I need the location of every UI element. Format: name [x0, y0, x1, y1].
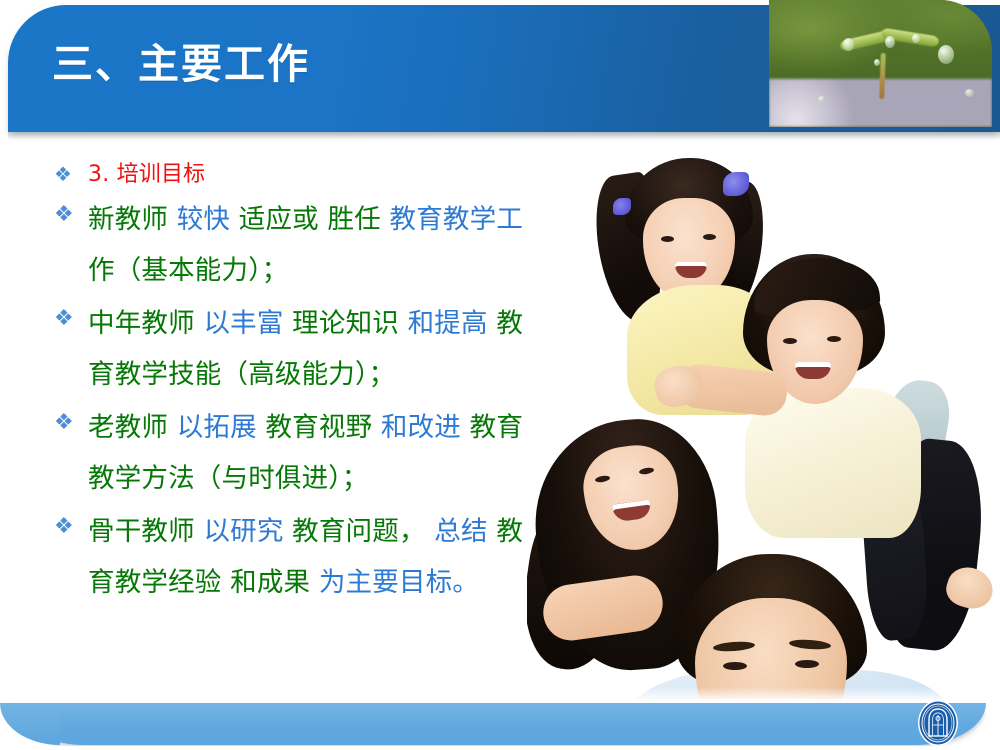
text-run: 和提高 — [408, 308, 488, 339]
text-run: 适应或 — [239, 204, 319, 235]
text-run: 以拓展 — [177, 412, 257, 443]
footer-band — [14, 703, 986, 745]
text-run: 中年教师 — [88, 308, 195, 339]
diamond-bullet-icon: ❖ — [52, 158, 88, 191]
header-shadow — [8, 131, 1000, 140]
list-item-text: 3. 培训目标 — [88, 158, 532, 192]
page-title: 三、主要工作 — [52, 41, 310, 88]
list-item[interactable]: ❖ 3. 培训目标 — [52, 158, 532, 192]
slide-bottom-edge — [0, 746, 1000, 750]
diamond-bullet-icon: ❖ — [52, 402, 88, 443]
list-item[interactable]: ❖ 中年教师 以丰富 理论知识 和提高 教 育教学技能（高级能力）； — [52, 298, 532, 400]
list-item-text: 老教师 以拓展 教育视野 和改进 教育 教学方法（与时俱进）； — [88, 402, 532, 504]
text-run: 理论知识 — [292, 308, 399, 339]
text-run: 教学方法（与时俱进）； — [88, 463, 368, 494]
text-run: 教育视野 — [265, 412, 372, 443]
list-item[interactable]: ❖ 骨干教师 以研究 教育问题， 总结 教 育教学经验 和成果 为主要目标。 — [52, 506, 532, 608]
text-run: 为主要目标。 — [319, 567, 479, 598]
text-run: 育教学技能（高级能力）； — [88, 359, 395, 390]
text-run: 老教师 — [88, 412, 168, 443]
sprout-with-dew-photo — [769, 0, 992, 127]
text-run: 作（基本能力）； — [88, 255, 288, 286]
text-run: 较快 — [177, 204, 230, 235]
diamond-bullet-icon: ❖ — [52, 194, 88, 235]
text-run: 教育 — [470, 412, 523, 443]
text-run: 育教学经验 — [88, 567, 222, 598]
text-run: 教育教学工 — [390, 204, 524, 235]
text-run: 教 — [496, 516, 523, 547]
list-item[interactable]: ❖ 老教师 以拓展 教育视野 和改进 教育 教学方法（与时俱进）； — [52, 402, 532, 504]
diamond-bullet-icon: ❖ — [52, 506, 88, 547]
university-seal-logo — [917, 699, 959, 747]
text-run: 总结 — [434, 516, 487, 547]
family-of-four-photo — [527, 150, 1000, 705]
text-run: 教 — [496, 308, 523, 339]
text-run: 新教师 — [88, 204, 168, 235]
list-item-text: 骨干教师 以研究 教育问题， 总结 教 育教学经验 和成果 为主要目标。 — [88, 506, 532, 608]
text-run: 以丰富 — [203, 308, 283, 339]
text-run: 和改进 — [381, 412, 461, 443]
diamond-bullet-icon: ❖ — [52, 298, 88, 339]
text-run: 以研究 — [203, 516, 283, 547]
bullet-list: ❖ 3. 培训目标 ❖ 新教师 较快 适应或 胜任 教育教学工 作（基本能力）；… — [52, 158, 532, 610]
text-run: 教育问题， — [292, 516, 426, 547]
list-item[interactable]: ❖ 新教师 较快 适应或 胜任 教育教学工 作（基本能力）； — [52, 194, 532, 296]
list-item-text: 新教师 较快 适应或 胜任 教育教学工 作（基本能力）； — [88, 194, 532, 296]
slide-canvas: 三、主要工作 ❖ 3. 培训目标 ❖ 新教师 较快 — [0, 0, 1000, 750]
text-run: 骨干教师 — [88, 516, 195, 547]
list-item-text: 中年教师 以丰富 理论知识 和提高 教 育教学技能（高级能力）； — [88, 298, 532, 400]
text-run: 胜任 — [328, 204, 381, 235]
text-run: 和成果 — [230, 567, 310, 598]
text-run: 3. 培训目标 — [88, 162, 205, 187]
